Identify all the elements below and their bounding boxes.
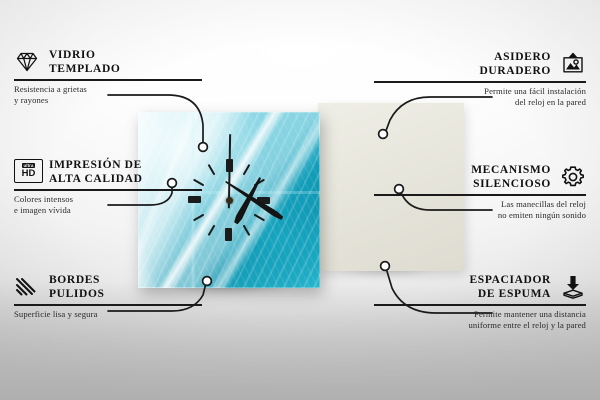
- callout-divider: [14, 304, 202, 306]
- ultra-hd-icon: ultra HD: [14, 159, 40, 185]
- callout-description: Resistencia a grietas y rayones: [14, 84, 234, 108]
- polished-edges-icon: [14, 274, 40, 300]
- callout-divider: [14, 189, 202, 191]
- callout-title: ESPACIADOR DE ESPUMA: [469, 273, 551, 301]
- callout-description: Superficie lisa y segura: [14, 309, 234, 321]
- callout-header: MECANISMO SILENCIOSO: [366, 163, 586, 191]
- picture-frame-hanger-icon: [560, 51, 586, 77]
- callout-divider: [374, 304, 586, 306]
- feature-callout-bordes: BORDES PULIDOS Superficie lisa y segura: [14, 273, 234, 320]
- callout-header: ESPACIADOR DE ESPUMA: [366, 273, 586, 301]
- callout-title: MECANISMO SILENCIOSO: [471, 163, 551, 191]
- feature-callout-impresion: ultra HD IMPRESIÓN DE ALTA CALIDAD Color…: [14, 158, 234, 217]
- diamond-icon: [14, 49, 40, 75]
- callout-header: ultra HD IMPRESIÓN DE ALTA CALIDAD: [14, 158, 234, 186]
- callout-title: ASIDERO DURADERO: [479, 50, 551, 78]
- callout-title: VIDRIO TEMPLADO: [49, 48, 121, 76]
- callout-divider: [14, 79, 202, 81]
- callout-description: Colores intensos e imagen vívida: [14, 194, 234, 218]
- callout-description: Permite mantener una distancia uniforme …: [366, 309, 586, 333]
- callout-divider: [374, 81, 586, 83]
- infographic-canvas: VIDRIO TEMPLADO Resistencia a grietas y …: [0, 0, 600, 400]
- callout-title: BORDES PULIDOS: [49, 273, 105, 301]
- foam-spacer-press-icon: [560, 274, 586, 300]
- callout-header: VIDRIO TEMPLADO: [14, 48, 234, 76]
- feature-callout-asidero: ASIDERO DURADERO Permite una fácil insta…: [366, 50, 586, 109]
- callout-header: BORDES PULIDOS: [14, 273, 234, 301]
- callout-title: IMPRESIÓN DE ALTA CALIDAD: [49, 158, 143, 186]
- feature-callout-espaciador: ESPACIADOR DE ESPUMA Permite mantener un…: [366, 273, 586, 332]
- callout-description: Las manecillas del reloj no emiten ningú…: [366, 199, 586, 223]
- callout-description: Permite una fácil instalación del reloj …: [366, 86, 586, 110]
- feature-callout-mecanismo: MECANISMO SILENCIOSO Las manecillas del …: [366, 163, 586, 222]
- callout-divider: [374, 194, 586, 196]
- gear-icon: [560, 164, 586, 190]
- callout-header: ASIDERO DURADERO: [366, 50, 586, 78]
- feature-callout-vidrio: VIDRIO TEMPLADO Resistencia a grietas y …: [14, 48, 234, 107]
